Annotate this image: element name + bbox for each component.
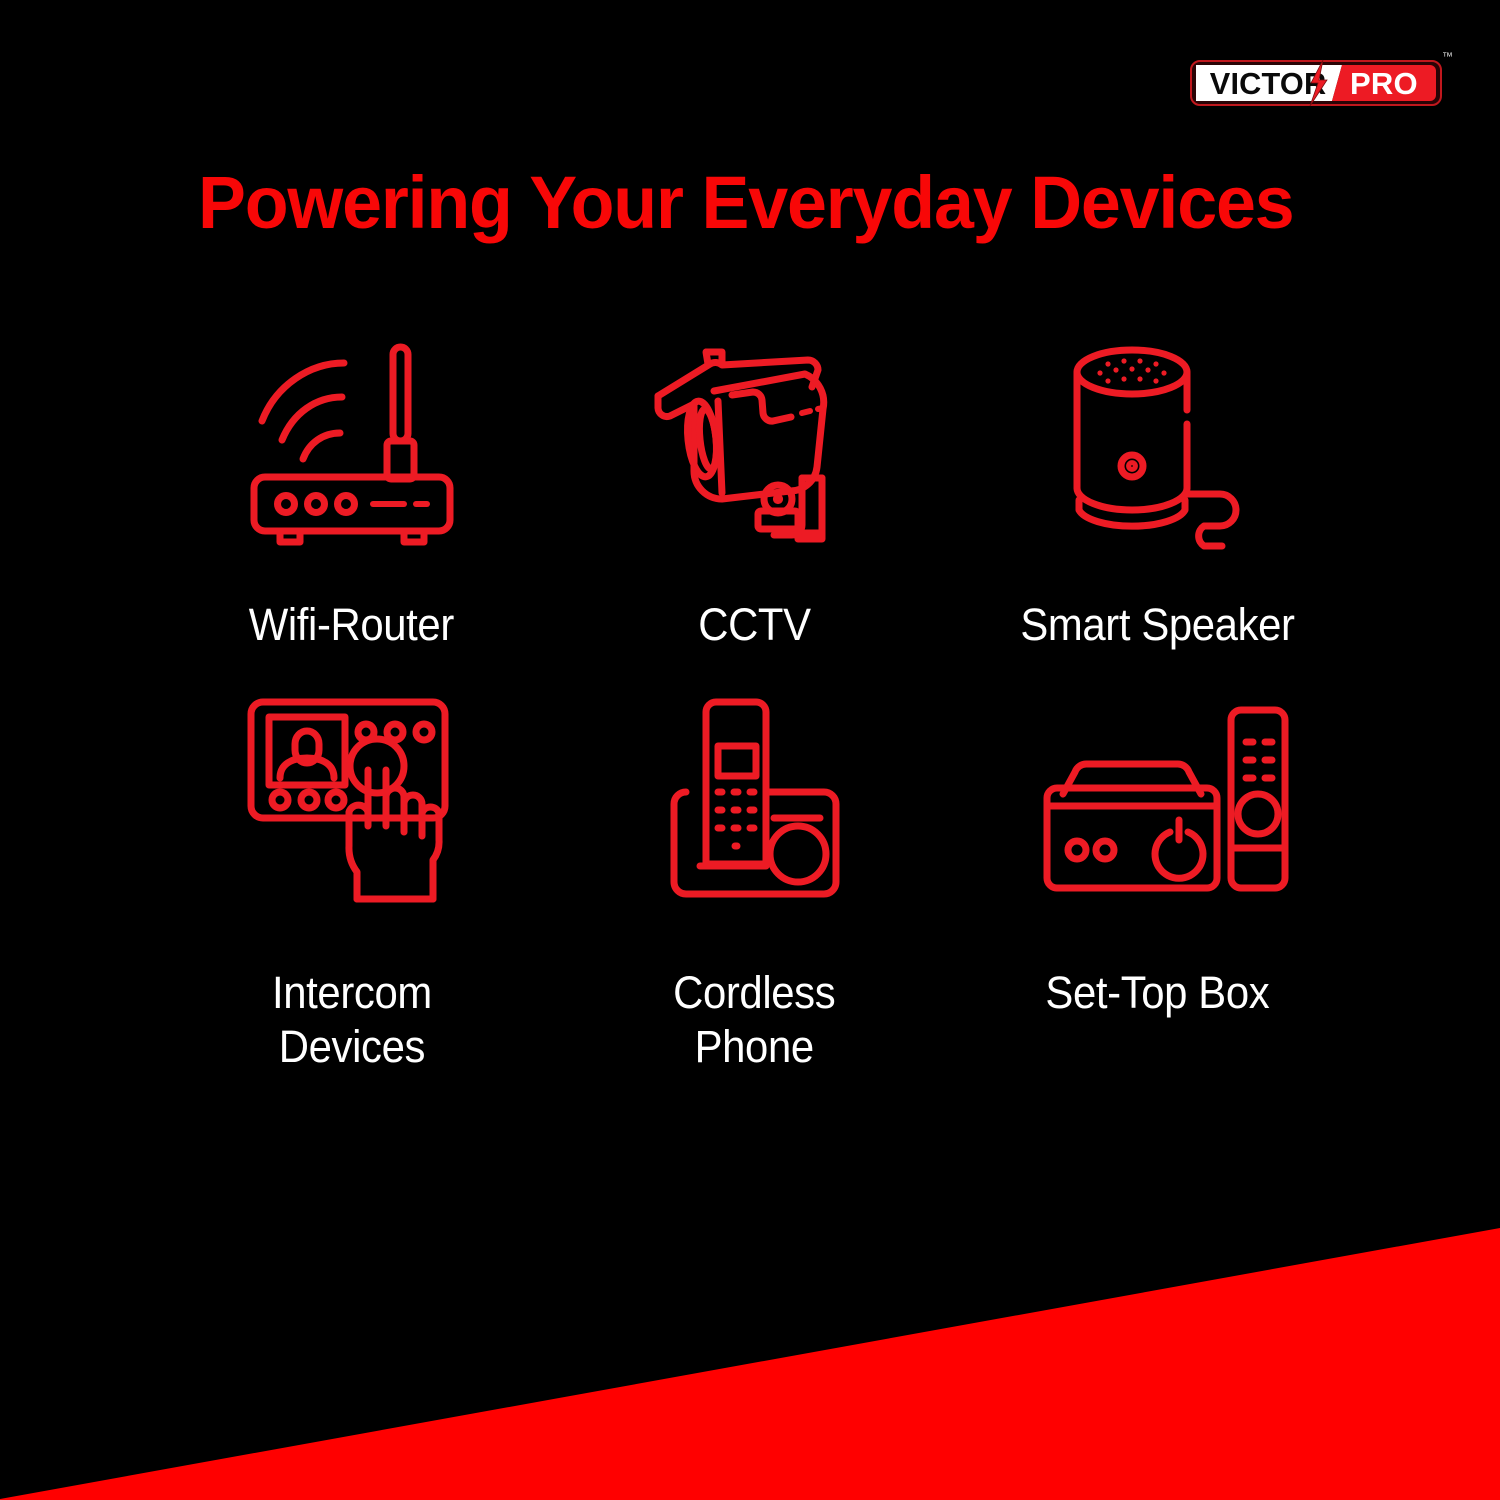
wifi-router-icon	[246, 343, 458, 547]
device-cell-cctv[interactable]: CCTV	[553, 330, 956, 682]
icon-container	[247, 682, 457, 922]
device-label: Cordless Phone	[673, 966, 835, 1075]
icon-container	[650, 330, 860, 560]
device-cell-set-top-box[interactable]: Set-Top Box	[956, 682, 1359, 1082]
cordless-phone-icon	[662, 694, 848, 910]
victorpro-logo[interactable]: VICTOR PRO	[1190, 58, 1442, 108]
device-label: Wifi-Router	[249, 598, 454, 652]
device-label: Intercom Devices	[272, 966, 432, 1075]
device-cell-smart-speaker[interactable]: Smart Speaker	[956, 330, 1359, 682]
logo-victor-text: VICTOR	[1210, 66, 1327, 101]
poster-canvas: VICTOR PRO ™ Powering Your Everyday Devi…	[0, 0, 1500, 1500]
device-cell-intercom[interactable]: Intercom Devices	[150, 682, 553, 1082]
logo-pro-text: PRO	[1350, 66, 1418, 101]
device-label: Smart Speaker	[1020, 598, 1294, 652]
smart-speaker-icon	[1070, 340, 1246, 550]
device-label: CCTV	[698, 598, 810, 652]
cctv-camera-icon	[650, 347, 860, 543]
device-grid: Wifi-Router	[150, 330, 1360, 1082]
icon-container	[1070, 330, 1246, 560]
intercom-panel-icon	[247, 694, 457, 910]
trademark-symbol: ™	[1442, 52, 1453, 63]
device-label-line-1: Cordless	[673, 966, 835, 1020]
device-row-2: Intercom Devices	[150, 682, 1360, 1082]
device-cell-cordless-phone[interactable]: Cordless Phone	[553, 682, 956, 1082]
device-label: Set-Top Box	[1046, 966, 1270, 1020]
icon-container	[662, 682, 848, 922]
page-title: Powering Your Everyday Devices	[198, 166, 1293, 240]
device-cell-wifi-router[interactable]: Wifi-Router	[150, 330, 553, 682]
set-top-box-icon	[1025, 702, 1291, 902]
device-label-line-2: Devices	[272, 1020, 432, 1074]
device-label-line-1: Intercom	[272, 966, 432, 1020]
icon-container	[246, 330, 458, 560]
device-row-1: Wifi-Router	[150, 330, 1360, 682]
icon-container	[1025, 682, 1291, 922]
device-label-line-1: Set-Top Box	[1046, 966, 1270, 1020]
device-label-line-2: Phone	[673, 1020, 835, 1074]
